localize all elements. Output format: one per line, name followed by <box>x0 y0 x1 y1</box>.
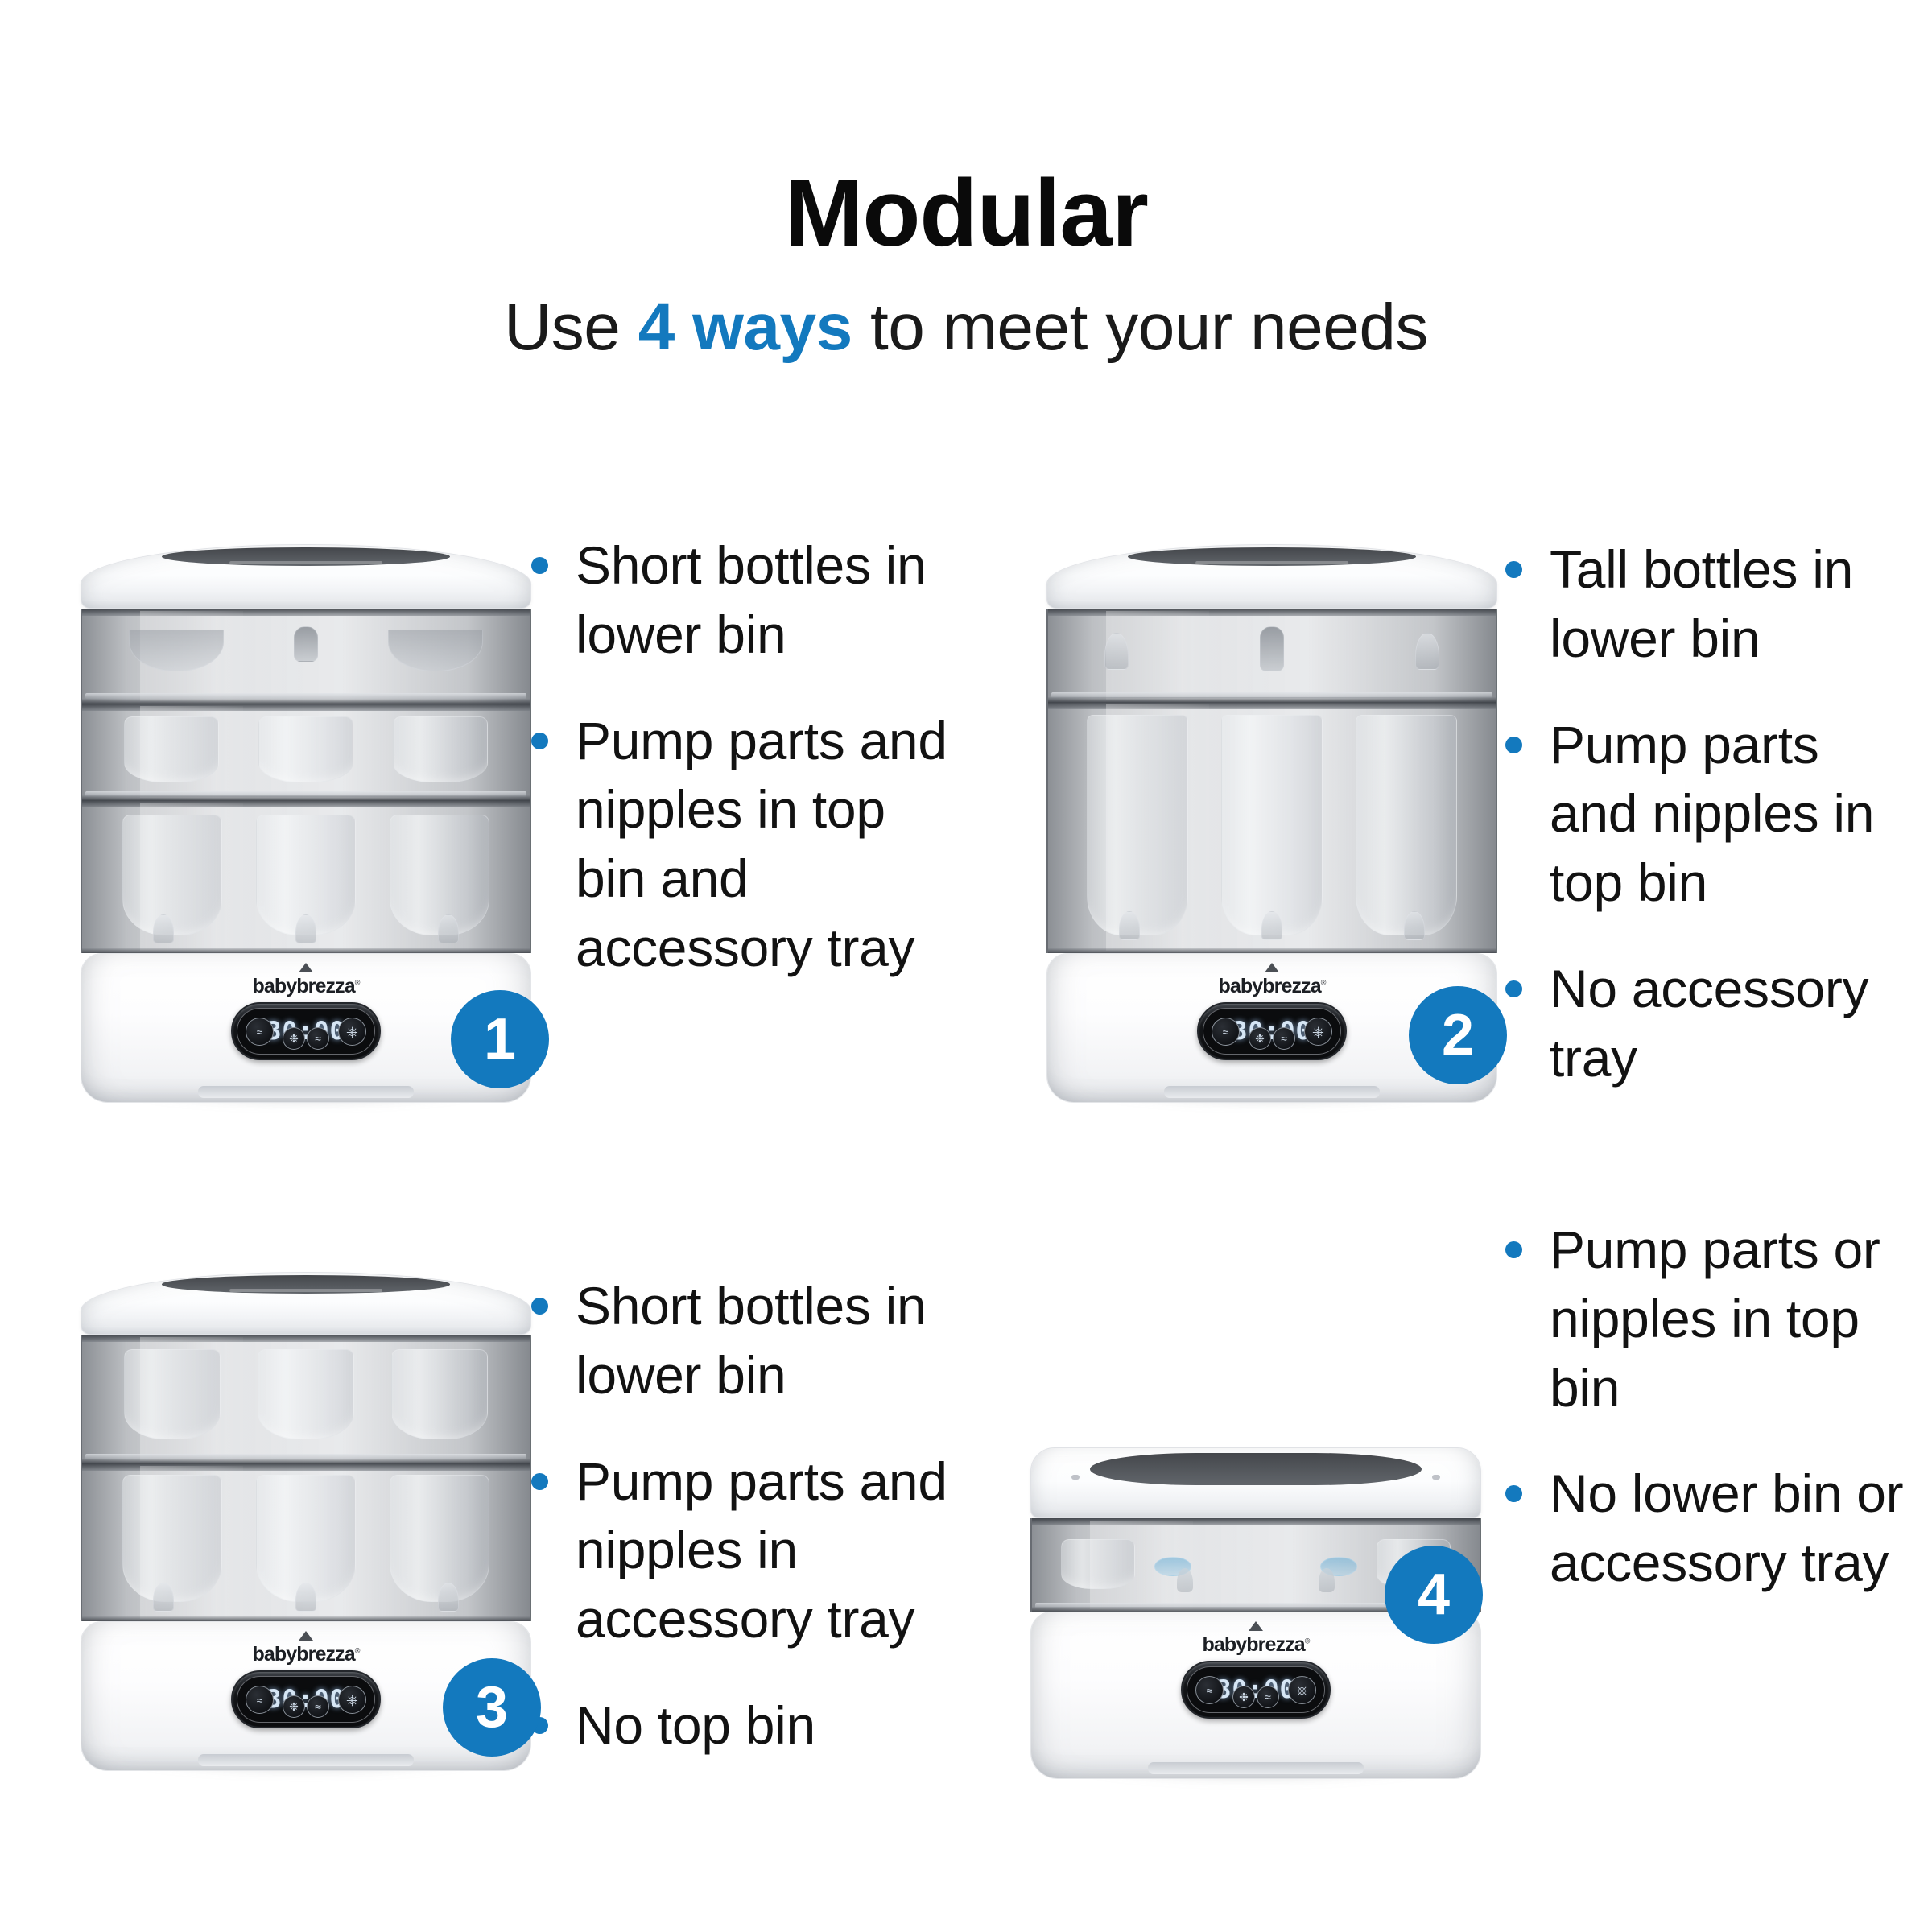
steam-icon[interactable]: ≈ <box>307 1027 329 1050</box>
tall-bottle-1 <box>1087 715 1188 935</box>
dry-mode-icon[interactable]: ≈ <box>1195 1676 1224 1704</box>
panel-2-bullets: Tall bottles in lower bin Pump parts and… <box>1505 535 1908 1093</box>
nipple-2 <box>295 1583 316 1612</box>
water-level-indicator-icon <box>1265 963 1279 972</box>
panel-config-4: babybrezza® 30:00 ≈ ⎈ ❉ ≈ <box>1006 1143 1908 1787</box>
lid-nub-right <box>1432 1475 1440 1480</box>
bullet-item: Short bottles in lower bin <box>531 1272 958 1410</box>
bullet-dot-icon <box>1505 980 1522 997</box>
bullet-dot-icon <box>531 557 548 574</box>
panel-number-badge: 3 <box>443 1658 541 1757</box>
bullet-dot-icon <box>531 1473 548 1490</box>
timer-display: 30:00 <box>266 1019 345 1044</box>
bullet-text: Pump parts or nipples in top bin <box>1550 1216 1908 1422</box>
panel-config-3: babybrezza® 30:00 ≈ ⎈ ❉ ≈ <box>48 1143 974 1787</box>
accessory-tray-shelf <box>85 1454 526 1459</box>
power-icon[interactable]: ⎈ <box>1288 1676 1316 1704</box>
lid-vent <box>229 561 382 564</box>
header: Modular Use 4 ways to meet your needs <box>0 0 1932 362</box>
bullet-dot-icon <box>1505 1241 1522 1258</box>
pump-connector <box>294 626 318 662</box>
nipple-lower-2 <box>1261 911 1282 940</box>
fan-icon[interactable]: ❉ <box>1232 1686 1255 1708</box>
dry-mode-icon[interactable]: ≈ <box>1212 1018 1240 1046</box>
lid-dark-insert <box>1090 1453 1422 1485</box>
timer-display: 30:00 <box>1232 1019 1311 1044</box>
nipple-top-2 <box>1415 633 1439 670</box>
bullet-text: Short bottles in lower bin <box>576 531 950 670</box>
panel-number-badge: 4 <box>1385 1546 1483 1644</box>
bottle-upper-3 <box>391 1349 488 1439</box>
panel-1-bullets: Short bottles in lower bin Pump parts an… <box>531 531 950 983</box>
panel-4-bullets: Pump parts or nipples in top bin No lowe… <box>1505 1216 1908 1598</box>
pump-connector <box>1260 626 1284 671</box>
lid-vent <box>229 1289 382 1292</box>
lid-nub-left <box>1071 1475 1080 1480</box>
dry-mode-icon[interactable]: ≈ <box>246 1686 274 1714</box>
lower-bin <box>80 1463 531 1621</box>
control-panel-inner: 30:00 ≈ ⎈ ❉ ≈ <box>1187 1666 1325 1713</box>
bullet-text: No top bin <box>576 1691 815 1761</box>
bullet-item: Pump parts and nipples in top bin and ac… <box>531 707 950 983</box>
top-bin <box>80 609 531 704</box>
power-icon[interactable]: ⎈ <box>338 1686 366 1714</box>
bullet-text: No lower bin or accessory tray <box>1550 1459 1908 1598</box>
device-lid <box>1030 1447 1481 1518</box>
steam-icon[interactable]: ≈ <box>1257 1686 1279 1708</box>
nipple-2 <box>295 914 316 943</box>
timer-display: 30:00 <box>1216 1678 1295 1703</box>
bullet-dot-icon <box>531 733 548 749</box>
bullet-text: Tall bottles in lower bin <box>1550 535 1908 674</box>
bullet-text: Short bottles in lower bin <box>576 1272 958 1410</box>
bullet-text: Pump parts and nipples in top bin and ac… <box>576 707 950 983</box>
bullet-item: No top bin <box>531 1691 958 1761</box>
control-panel[interactable]: 30:00 ≈ ⎈ ❉ ≈ <box>1181 1661 1331 1719</box>
bullet-dot-icon <box>1505 1485 1522 1502</box>
steam-icon[interactable]: ≈ <box>307 1695 329 1718</box>
tall-bottle-2 <box>1221 715 1323 935</box>
water-level-indicator-icon <box>299 1631 313 1641</box>
bullet-dot-icon <box>1505 561 1522 578</box>
bottle-lower-1 <box>122 1475 222 1602</box>
nipple-cluster-left <box>1061 1539 1135 1589</box>
brand-logo: babybrezza® <box>1219 975 1326 998</box>
bottle-lower-3 <box>390 815 489 935</box>
nipple-1 <box>153 1583 174 1612</box>
panel-3-bullets: Short bottles in lower bin Pump parts an… <box>531 1272 958 1761</box>
bullet-item: Short bottles in lower bin <box>531 531 950 670</box>
control-panel[interactable]: 30:00 ≈ ⎈ ❉ ≈ <box>231 1670 381 1728</box>
bottle-upper-2 <box>258 1349 354 1439</box>
bullet-dot-icon <box>531 1298 548 1315</box>
tall-bottle-3 <box>1356 715 1457 935</box>
bullet-item: No lower bin or accessory tray <box>1505 1459 1908 1598</box>
panel-number-badge: 1 <box>451 990 549 1088</box>
power-icon[interactable]: ⎈ <box>1304 1018 1332 1046</box>
upper-shelf <box>85 791 526 797</box>
device-lid <box>1046 544 1497 609</box>
middle-bin-upper <box>80 704 531 800</box>
control-panel[interactable]: 30:00 ≈ ⎈ ❉ ≈ <box>231 1002 381 1060</box>
subtitle-text-after: to meet your needs <box>852 291 1428 364</box>
water-level-indicator-icon <box>1249 1621 1263 1631</box>
top-bin-shelf <box>1051 692 1492 698</box>
bullet-text: No accessory tray <box>1550 955 1908 1093</box>
nipple-1 <box>153 914 174 943</box>
power-icon[interactable]: ⎈ <box>338 1018 366 1046</box>
page-subtitle: Use 4 ways to meet your needs <box>0 293 1932 362</box>
panel-config-2: babybrezza® 30:00 ≈ ⎈ ❉ ≈ <box>1006 483 1908 1127</box>
lower-bin <box>80 800 531 953</box>
bullet-item: Pump parts and nipples in accessory tray <box>531 1447 958 1654</box>
bullet-text: Pump parts and nipples in accessory tray <box>576 1447 958 1654</box>
fan-icon[interactable]: ❉ <box>283 1695 305 1718</box>
lower-bin <box>1046 702 1497 953</box>
nipple-3 <box>438 914 459 943</box>
device-lid <box>80 1272 531 1335</box>
infographic-page: Modular Use 4 ways to meet your needs <box>0 0 1932 1932</box>
subtitle-text-before: Use <box>504 291 638 364</box>
pump-flange-left <box>129 630 224 671</box>
nipple-3 <box>438 1583 459 1612</box>
bullet-dot-icon <box>1505 737 1522 753</box>
accessory-tray-bin <box>80 1335 531 1463</box>
pacifier-teat-1 <box>1177 1568 1193 1592</box>
fan-icon[interactable]: ❉ <box>1249 1027 1271 1050</box>
bottle-lower-3 <box>390 1475 489 1602</box>
bottle-upper-2 <box>258 716 353 782</box>
bullet-text: Pump parts and nipples in top bin <box>1550 711 1908 918</box>
top-bin <box>1046 609 1497 702</box>
brand-logo: babybrezza® <box>253 975 360 998</box>
page-title: Modular <box>0 166 1932 261</box>
nipple-lower-1 <box>1119 911 1140 940</box>
control-panel-inner: 30:00 ≈ ⎈ ❉ ≈ <box>237 1008 375 1055</box>
bullet-item: No accessory tray <box>1505 955 1908 1093</box>
panel-config-1: babybrezza® 30:00 ≈ ⎈ ❉ ≈ <box>48 483 974 1127</box>
fan-icon[interactable]: ❉ <box>283 1027 305 1050</box>
bottle-upper-3 <box>393 716 488 782</box>
control-panel[interactable]: 30:00 ≈ ⎈ ❉ ≈ <box>1197 1002 1347 1060</box>
accessory-tray-shelf <box>85 693 526 699</box>
pump-flange-right <box>388 630 483 671</box>
bottle-upper-1 <box>124 1349 221 1439</box>
control-panel-inner: 30:00 ≈ ⎈ ❉ ≈ <box>1203 1008 1341 1055</box>
bottle-lower-1 <box>122 815 222 935</box>
bottle-upper-1 <box>124 716 219 782</box>
timer-display: 30:00 <box>266 1687 345 1712</box>
device-lid <box>80 544 531 609</box>
brand-logo: babybrezza® <box>253 1643 360 1666</box>
brand-logo: babybrezza® <box>1203 1633 1310 1657</box>
panel-number-badge: 2 <box>1409 986 1507 1084</box>
bullet-item: Pump parts or nipples in top bin <box>1505 1216 1908 1422</box>
nipple-lower-3 <box>1404 911 1425 940</box>
control-panel-inner: 30:00 ≈ ⎈ ❉ ≈ <box>237 1676 375 1723</box>
steam-icon[interactable]: ≈ <box>1273 1027 1295 1050</box>
bullet-item: Tall bottles in lower bin <box>1505 535 1908 674</box>
nipple-top-1 <box>1104 633 1129 670</box>
bullet-item: Pump parts and nipples in top bin <box>1505 711 1908 918</box>
dry-mode-icon[interactable]: ≈ <box>246 1018 274 1046</box>
subtitle-accent: 4 ways <box>638 291 852 364</box>
lid-vent <box>1195 561 1348 564</box>
water-level-indicator-icon <box>299 963 313 972</box>
pacifier-teat-2 <box>1319 1568 1335 1592</box>
